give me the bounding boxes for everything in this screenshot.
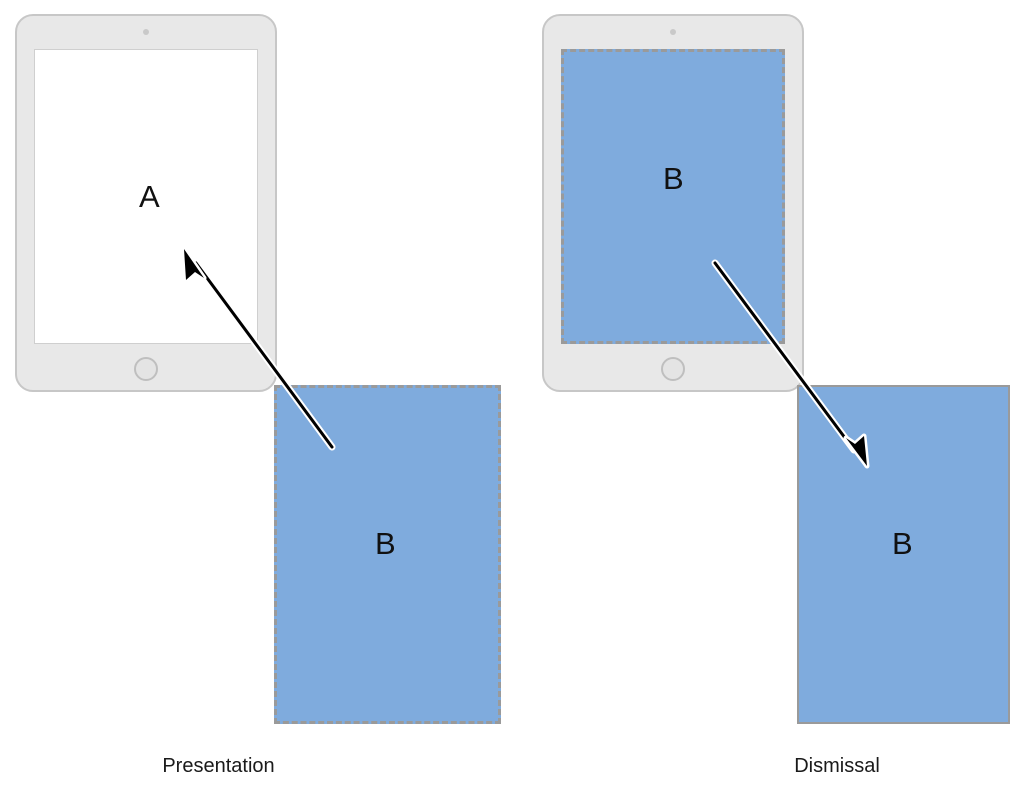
screen-label-b: B (663, 163, 684, 194)
diagram-canvas: A B B B Presentation Dismissal (0, 0, 1029, 798)
camera-icon (143, 29, 149, 35)
screen-label-a: A (139, 181, 160, 212)
home-button-icon (134, 357, 158, 381)
camera-icon (670, 29, 676, 35)
home-button-icon (661, 357, 685, 381)
card-label-b: B (375, 528, 396, 559)
caption-dismissal: Dismissal (592, 755, 1029, 778)
panel-presentation: A B (0, 0, 515, 798)
caption-presentation: Presentation (0, 755, 437, 778)
ipad-device-dismissal (542, 14, 804, 392)
card-label-b: B (892, 528, 913, 559)
device-screen-filled (561, 49, 785, 344)
